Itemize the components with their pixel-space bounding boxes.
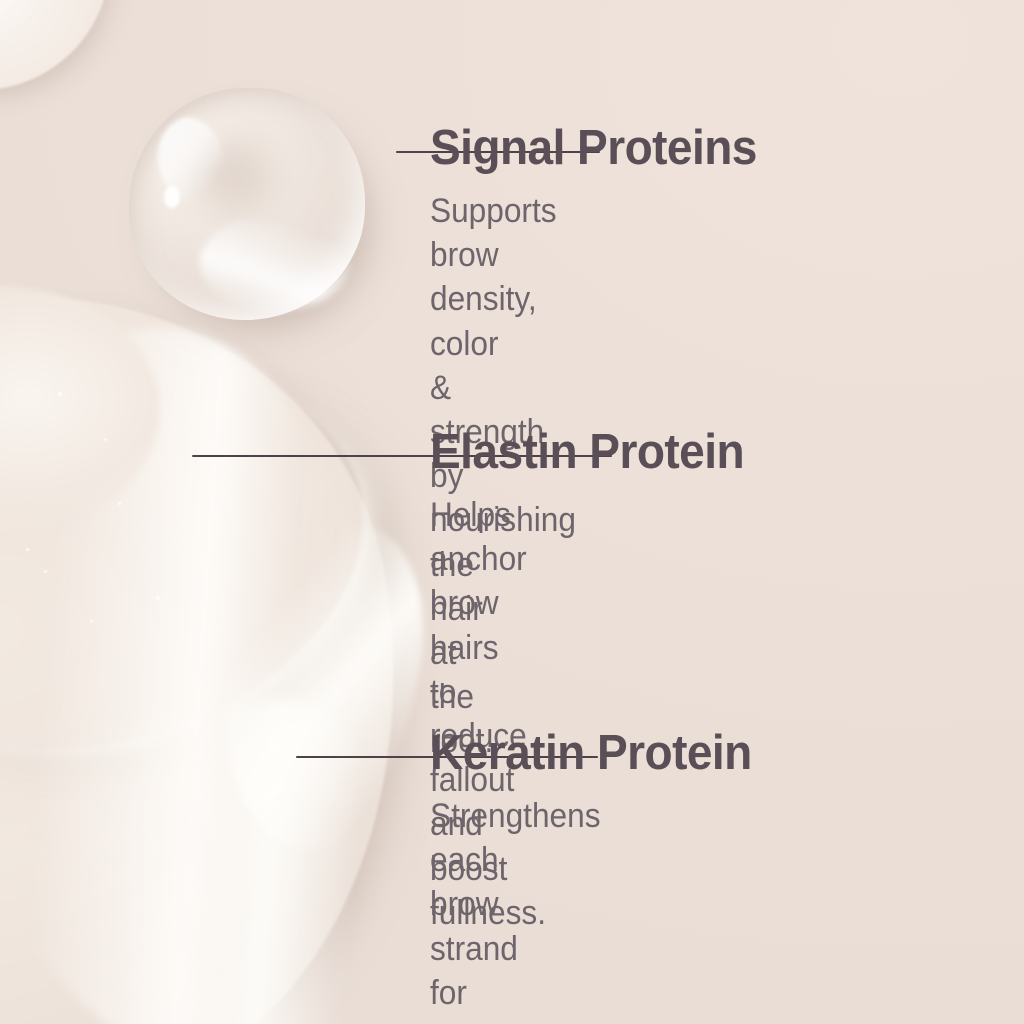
cream-mass-dish xyxy=(0,373,343,906)
hero-droplet-shading xyxy=(150,100,300,240)
cream-speck xyxy=(58,392,62,396)
cream-speck xyxy=(118,502,121,505)
cream-ridge xyxy=(0,310,407,1024)
cream-scoop-edge xyxy=(0,308,413,811)
cream-speck xyxy=(44,570,47,573)
hero-droplet-specular-dot xyxy=(164,186,180,208)
cream-ridge-lower xyxy=(130,700,390,1024)
cream-speck xyxy=(104,438,107,441)
lower-left-blob xyxy=(0,285,160,535)
cream-speck xyxy=(156,596,160,600)
cream-speck xyxy=(90,620,93,623)
top-left-blob xyxy=(0,0,110,90)
hero-droplet-highlight xyxy=(144,109,237,213)
top-left-blob-gloss xyxy=(0,0,110,90)
hero-droplet-core-shade xyxy=(186,128,306,256)
hero-droplet-rim-light xyxy=(200,215,350,311)
infographic-canvas: Signal Proteins Supports brow density, c… xyxy=(0,0,1024,1024)
hero-droplet xyxy=(129,88,365,320)
cream-flick xyxy=(199,506,443,864)
cream-mass xyxy=(0,245,458,1024)
cream-speck xyxy=(26,548,29,551)
